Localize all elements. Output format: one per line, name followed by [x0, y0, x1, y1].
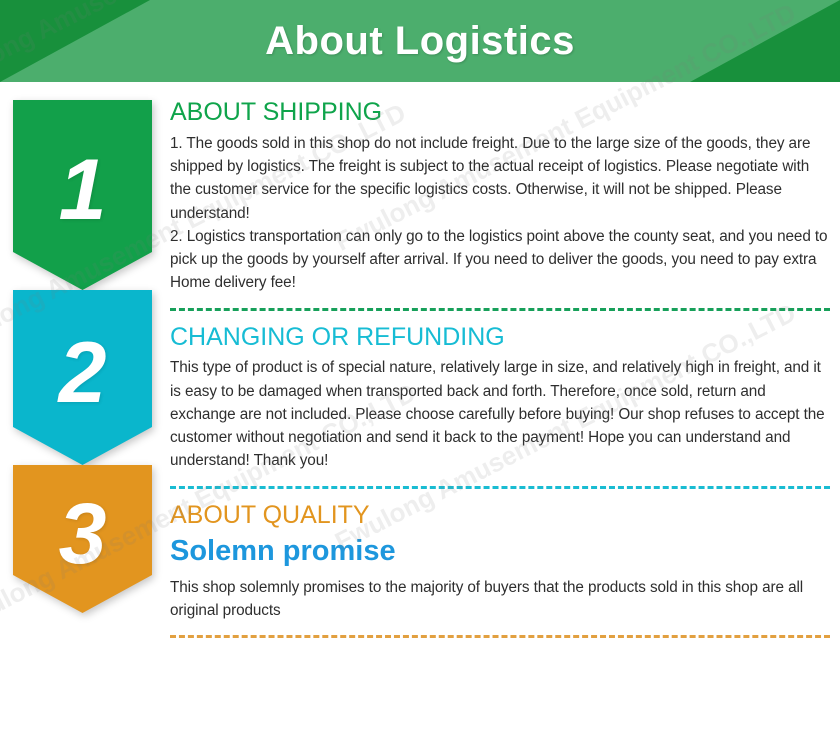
section-body-shipping: 1. The goods sold in this shop do not in…	[170, 132, 830, 295]
step-number-1: 1	[13, 100, 152, 290]
step-ribbon-3: 3	[13, 465, 152, 613]
page-title: About Logistics	[0, 0, 840, 82]
page-header: About Logistics	[0, 0, 840, 82]
step-number-3: 3	[13, 465, 152, 613]
quality-paragraph-1: This shop solemnly promises to the major…	[170, 576, 830, 623]
section-about-quality: ABOUT QUALITY Solemn promise This shop s…	[170, 501, 830, 639]
shipping-paragraph-2: 2. Logistics transportation can only go …	[170, 225, 830, 295]
divider-shipping	[170, 308, 830, 311]
section-title-shipping: ABOUT SHIPPING	[170, 98, 830, 127]
section-body-quality: This shop solemnly promises to the major…	[170, 576, 830, 623]
section-subtitle-solemn-promise: Solemn promise	[170, 535, 830, 568]
step-ribbon-column: 1 2 3	[13, 100, 152, 613]
refunding-paragraph-1: This type of product is of special natur…	[170, 356, 830, 472]
section-title-refunding: CHANGING OR REFUNDING	[170, 323, 830, 352]
section-body-refunding: This type of product is of special natur…	[170, 356, 830, 472]
step-ribbon-1: 1	[13, 100, 152, 290]
section-changing-refunding: CHANGING OR REFUNDING This type of produ…	[170, 323, 830, 489]
section-about-shipping: ABOUT SHIPPING 1. The goods sold in this…	[170, 98, 830, 311]
step-ribbon-2: 2	[13, 290, 152, 465]
divider-refunding	[170, 486, 830, 489]
step-number-2: 2	[13, 290, 152, 465]
content-column: ABOUT SHIPPING 1. The goods sold in this…	[170, 98, 830, 650]
divider-quality	[170, 635, 830, 638]
section-title-quality: ABOUT QUALITY	[170, 501, 830, 530]
shipping-paragraph-1: 1. The goods sold in this shop do not in…	[170, 132, 830, 225]
